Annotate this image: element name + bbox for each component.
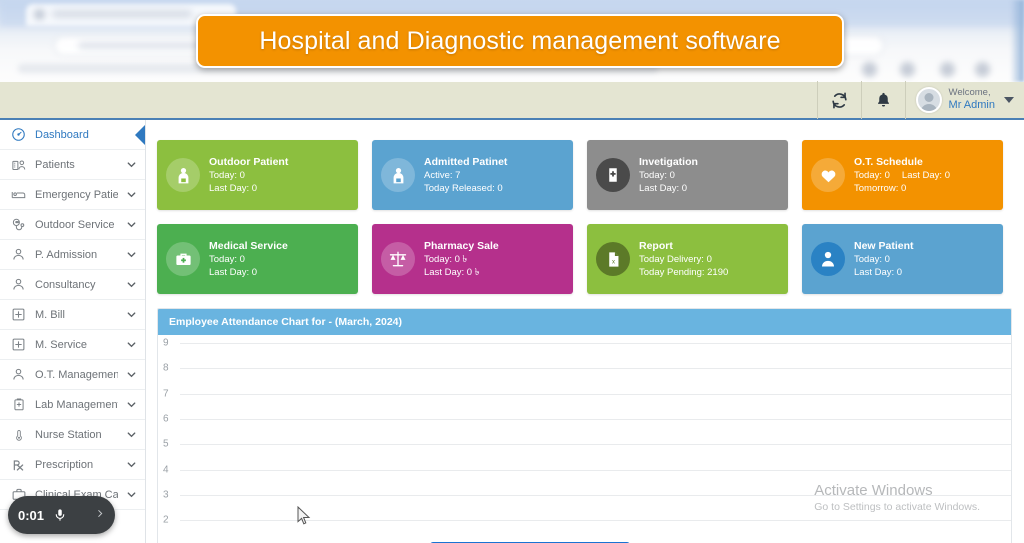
sidebar-item-consultancy[interactable]: Consultancy (0, 270, 145, 300)
card-text: Outdoor Patient Today: 0 Last Day: 0 (209, 155, 288, 196)
sidebar-item-nurse-station[interactable]: Nurse Station (0, 420, 145, 450)
card-line: Today: 0 (209, 254, 288, 267)
page-title-banner: Hospital and Diagnostic management softw… (196, 14, 844, 68)
bell-icon (875, 91, 892, 109)
toolbar-icon-blur (900, 62, 915, 77)
tab-favicon (34, 9, 45, 20)
chevron-down-icon (126, 339, 137, 350)
chevron-down-icon (126, 189, 137, 200)
card-line: Active: 7 (424, 170, 507, 183)
notifications-button[interactable] (861, 81, 905, 119)
plus-box-icon (10, 336, 27, 353)
card-text: Pharmacy Sale Today: 0 ৳ Last Day: 0 ৳ (424, 239, 499, 280)
stats-cards-grid: Outdoor Patient Today: 0 Last Day: 0 Adm… (157, 140, 1012, 294)
chevron-down-icon (1004, 97, 1014, 103)
sidebar-item-label: M. Bill (35, 309, 118, 321)
chevron-down-icon (126, 399, 137, 410)
card-medical-service[interactable]: Medical Service Today: 0 Last Day: 0 (157, 224, 358, 294)
refresh-icon (830, 91, 849, 110)
sidebar-item-p-admission[interactable]: P. Admission (0, 240, 145, 270)
card-new-patient[interactable]: New Patient Today: 0 Last Day: 0 (802, 224, 1003, 294)
microphone-icon[interactable] (53, 507, 67, 523)
chart-gridline (180, 368, 1011, 369)
card-line: Last Day: 0 ৳ (424, 267, 499, 280)
scale-icon (381, 242, 415, 276)
refresh-button[interactable] (817, 81, 861, 119)
medical-kit-icon (166, 242, 200, 276)
sidebar-item-patients[interactable]: Patients (0, 150, 145, 180)
card-line: Today: 0 (854, 170, 890, 183)
chart-gridline (180, 343, 1011, 344)
card-line: Today: 0 (639, 170, 698, 183)
card-line: Last Day: 0 (854, 267, 914, 280)
card-outdoor-patient[interactable]: Outdoor Patient Today: 0 Last Day: 0 (157, 140, 358, 210)
card-text: Report Today Delivery: 0 Today Pending: … (639, 239, 728, 280)
chevron-down-icon (126, 279, 137, 290)
investigation-icon (596, 158, 630, 192)
avatar (916, 87, 942, 113)
sidebar-nav[interactable]: Dashboard Patients Emergency Patients (0, 120, 146, 543)
rx-icon (10, 456, 27, 473)
admitted-patient-icon (381, 158, 415, 192)
bed-icon (10, 186, 27, 203)
sidebar-item-label: Prescription (35, 459, 118, 471)
card-title: New Patient (854, 239, 914, 253)
toolbar-icon-blur (940, 62, 955, 77)
sidebar-item-m-bill[interactable]: M. Bill (0, 300, 145, 330)
card-line: Tomorrow: 0 (854, 183, 950, 196)
chart-y-tick: 7 (163, 388, 169, 399)
chevron-down-icon (126, 219, 137, 230)
user-name: Mr Admin (949, 99, 995, 112)
outdoor-patient-icon (166, 158, 200, 192)
card-text: Medical Service Today: 0 Last Day: 0 (209, 239, 288, 280)
patients-icon (10, 156, 27, 173)
card-line: Today Released: 0 (424, 183, 507, 196)
chevron-down-icon (126, 429, 137, 440)
toolbar-icon-blur (975, 62, 990, 77)
mouse-cursor (297, 506, 311, 530)
tab-title-blur (52, 10, 192, 18)
card-text: New Patient Today: 0 Last Day: 0 (854, 239, 914, 280)
chart-gridline (180, 470, 1011, 471)
card-title: Invetigation (639, 155, 698, 169)
chevron-down-icon (126, 309, 137, 320)
card-line: Today: 0 ৳ (424, 254, 499, 267)
chart-y-tick: 6 (163, 413, 169, 424)
card-line: Last Day: 0 (639, 183, 698, 196)
chart-gridline (180, 444, 1011, 445)
sidebar-item-dashboard[interactable]: Dashboard (0, 120, 145, 150)
card-investigation[interactable]: Invetigation Today: 0 Last Day: 0 (587, 140, 788, 210)
sidebar-item-label: Outdoor Service (35, 219, 118, 231)
chart-title: Employee Attendance Chart for - (March, … (158, 309, 1011, 335)
card-text: Admitted Patinet Active: 7 Today Release… (424, 155, 507, 196)
chart-y-tick: 9 (163, 338, 169, 349)
card-line: Last Day: 0 (902, 170, 950, 183)
chart-y-tick: 2 (163, 515, 169, 526)
card-title: Admitted Patinet (424, 155, 507, 169)
chart-y-tick: 5 (163, 439, 169, 450)
chart-y-tick: 4 (163, 464, 169, 475)
card-ot-schedule[interactable]: O.T. Schedule Today: 0 Last Day: 0 Tomor… (802, 140, 1003, 210)
stethoscope-icon (10, 216, 27, 233)
report-file-icon: x (596, 242, 630, 276)
welcome-label: Welcome, (949, 88, 995, 99)
windows-activation-watermark: Activate Windows Go to Settings to activ… (814, 482, 980, 513)
person-icon (10, 366, 27, 383)
chevron-down-icon (126, 489, 137, 500)
toolbar-icon-blur (862, 62, 877, 77)
card-text: Invetigation Today: 0 Last Day: 0 (639, 155, 698, 196)
chevron-down-icon (126, 459, 137, 470)
card-title: O.T. Schedule (854, 155, 950, 169)
app-root: Hospital and Diagnostic management softw… (0, 0, 1024, 543)
card-line: Today Delivery: 0 (639, 254, 728, 267)
sidebar-item-label: M. Service (35, 339, 118, 351)
card-title: Report (639, 239, 728, 253)
card-text: O.T. Schedule Today: 0 Last Day: 0 Tomor… (854, 155, 950, 196)
main-content: Outdoor Patient Today: 0 Last Day: 0 Adm… (146, 120, 1024, 543)
page-title: Hospital and Diagnostic management softw… (259, 27, 780, 56)
thermometer-icon (10, 426, 27, 443)
sidebar-item-ot-management[interactable]: O.T. Management (0, 360, 145, 390)
chevron-down-icon (126, 159, 137, 170)
card-title: Outdoor Patient (209, 155, 288, 169)
sidebar-item-emergency-patients[interactable]: Emergency Patients (0, 180, 145, 210)
card-title: Medical Service (209, 239, 288, 253)
sidebar-item-label: Patients (35, 159, 118, 171)
sidebar-item-lab-management[interactable]: Lab Management (0, 390, 145, 420)
sidebar-item-label: Lab Management (35, 399, 118, 411)
person-icon (10, 246, 27, 263)
watermark-title: Activate Windows (814, 482, 980, 499)
chart-y-tick: 3 (163, 489, 169, 500)
chevron-right-icon[interactable] (95, 507, 105, 523)
card-title: Pharmacy Sale (424, 239, 499, 253)
sidebar-item-label: Nurse Station (35, 429, 118, 441)
window-edge (1010, 0, 1024, 82)
svg-text:x: x (611, 259, 614, 265)
card-line: Last Day: 0 (209, 183, 288, 196)
sidebar-item-label: Emergency Patients (35, 189, 118, 201)
chart-gridline (180, 419, 1011, 420)
plus-box-icon (10, 306, 27, 323)
sidebar-item-label: P. Admission (35, 249, 118, 261)
card-line: Today Pending: 2190 (639, 267, 728, 280)
sidebar-item-label: Consultancy (35, 279, 118, 291)
sidebar-item-prescription[interactable]: Prescription (0, 450, 145, 480)
app-header: Welcome, Mr Admin (0, 82, 1024, 120)
sidebar-item-label: Dashboard (35, 129, 137, 141)
card-admitted-patient[interactable]: Admitted Patinet Active: 7 Today Release… (372, 140, 573, 210)
card-line: Today: 0 (854, 254, 914, 267)
chevron-down-icon (126, 369, 137, 380)
chart-gridline (180, 394, 1011, 395)
card-line-group: Today: 0 Last Day: 0 (854, 170, 950, 183)
card-line: Today: 0 (209, 170, 288, 183)
person-icon (811, 242, 845, 276)
sidebar-item-outdoor-service[interactable]: Outdoor Service (0, 210, 145, 240)
person-icon (10, 276, 27, 293)
sidebar-item-label: O.T. Management (35, 369, 118, 381)
heart-icon (811, 158, 845, 192)
user-info: Welcome, Mr Admin (949, 88, 995, 112)
screen-recorder-widget[interactable]: 0:01 (8, 496, 115, 534)
watermark-subtitle: Go to Settings to activate Windows. (814, 501, 980, 513)
card-line: Last Day: 0 (209, 267, 288, 280)
chart-y-tick: 8 (163, 363, 169, 374)
sidebar-item-m-service[interactable]: M. Service (0, 330, 145, 360)
user-menu[interactable]: Welcome, Mr Admin (905, 81, 1024, 119)
clipboard-icon (10, 396, 27, 413)
chevron-down-icon (126, 249, 137, 260)
gauge-icon (10, 126, 27, 143)
card-report[interactable]: x Report Today Delivery: 0 Today Pending… (587, 224, 788, 294)
card-pharmacy-sale[interactable]: Pharmacy Sale Today: 0 ৳ Last Day: 0 ৳ (372, 224, 573, 294)
recording-timer: 0:01 (18, 508, 44, 523)
